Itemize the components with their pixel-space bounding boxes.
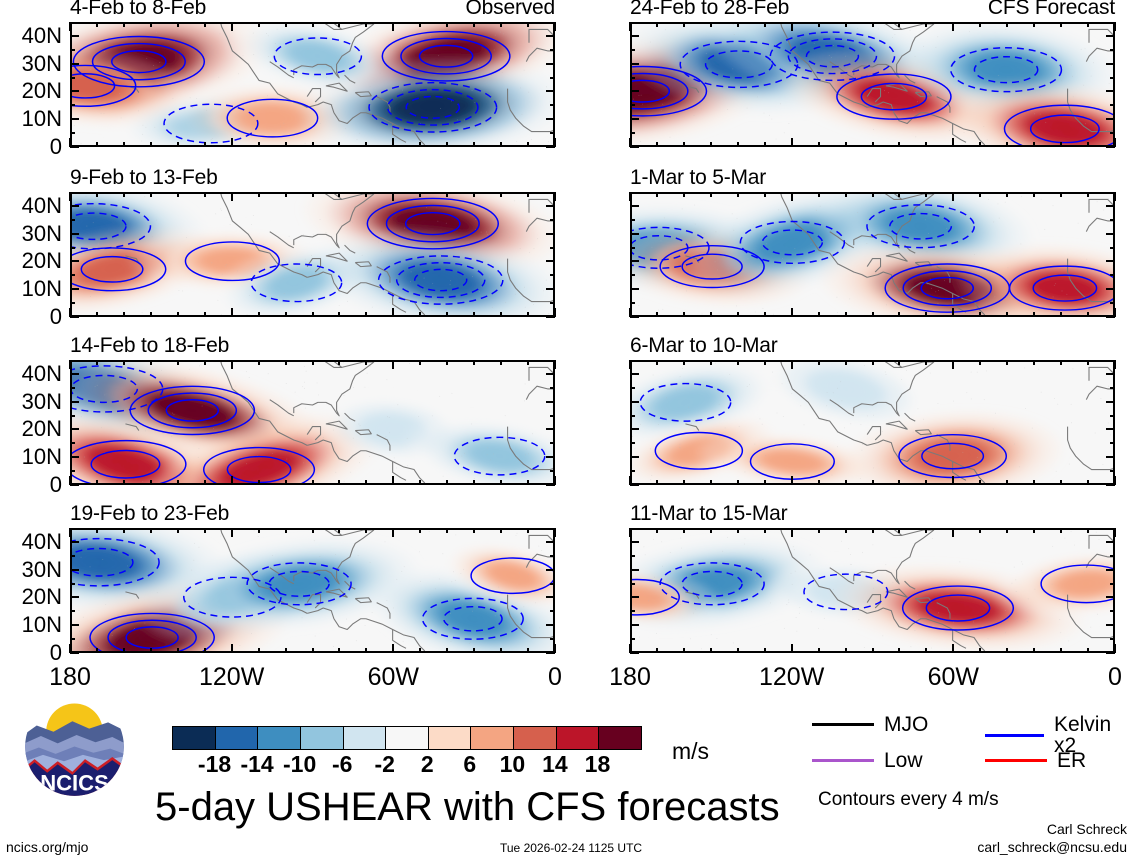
y-tick [70, 77, 75, 79]
x-tick [500, 360, 502, 365]
x-tick [419, 22, 421, 27]
colorbar-swatch [471, 727, 514, 749]
x-tick [737, 648, 739, 653]
x-tick [312, 142, 314, 147]
y-tick [70, 90, 79, 92]
y-tick [630, 442, 635, 444]
x-tick [285, 192, 287, 197]
x-tick [338, 22, 340, 27]
x-tick [1087, 142, 1089, 147]
colorbar [172, 726, 642, 750]
x-tick [791, 528, 793, 537]
x-tick [979, 360, 981, 365]
x-tick [365, 360, 367, 365]
plot-area-obs-3 [70, 360, 555, 485]
x-tick [818, 192, 820, 197]
y-tick [546, 373, 555, 375]
y-tick [1110, 219, 1115, 221]
x-tick [952, 528, 954, 537]
y-axis-label: 0 [0, 306, 62, 328]
colorbar-tick-label: -10 [283, 753, 316, 776]
x-tick [285, 142, 287, 147]
panel-title-obs-3: 14-Feb to 18-Feb [70, 335, 229, 356]
y-tick [630, 302, 635, 304]
y-tick [546, 316, 555, 318]
y-tick [1110, 77, 1115, 79]
y-tick [70, 415, 75, 417]
x-tick [791, 22, 793, 31]
x-tick [898, 192, 900, 197]
map-panel-fcst-2: 1-Mar to 5-Mar [630, 192, 1115, 317]
x-tick [419, 142, 421, 147]
x-tick [204, 360, 206, 365]
x-tick [285, 312, 287, 317]
y-tick [1110, 247, 1115, 249]
y-tick [1106, 373, 1115, 375]
y-tick [1110, 415, 1115, 417]
legend-label: Low [884, 750, 923, 771]
x-tick [96, 648, 98, 653]
x-tick [473, 648, 475, 653]
y-tick [630, 90, 639, 92]
x-tick [656, 142, 658, 147]
y-axis-label: 20N [0, 80, 62, 102]
x-tick [177, 192, 179, 197]
x-tick [1114, 360, 1116, 369]
y-tick [1110, 470, 1115, 472]
legend-item-er: ER [985, 750, 1086, 771]
y-tick [546, 288, 555, 290]
x-tick [845, 648, 847, 653]
x-tick [952, 360, 954, 369]
x-tick [925, 360, 927, 365]
x-tick [419, 648, 421, 653]
author-email[interactable]: carl_schreck@ncsu.edu [977, 840, 1127, 854]
map-panel-obs-3: 14-Feb to 18-Feb [70, 360, 555, 485]
y-tick [70, 555, 75, 557]
y-tick [546, 596, 555, 598]
x-axis-label: 180 [49, 665, 91, 690]
y-axis-label: 10N [0, 614, 62, 636]
x-tick [1060, 648, 1062, 653]
x-tick [818, 312, 820, 317]
x-tick [258, 528, 260, 533]
y-tick [550, 470, 555, 472]
y-tick [70, 205, 79, 207]
x-tick [527, 22, 529, 27]
x-tick [764, 648, 766, 653]
x-tick [898, 360, 900, 365]
x-tick [392, 644, 394, 653]
x-tick [231, 644, 233, 653]
colorbar-tick-label: -14 [240, 753, 273, 776]
y-tick [1106, 146, 1115, 148]
y-tick [1110, 49, 1115, 51]
x-tick [629, 528, 631, 537]
x-axis-label: 0 [548, 665, 562, 690]
x-tick [312, 22, 314, 27]
y-axis-label: 10N [0, 446, 62, 468]
x-tick [96, 142, 98, 147]
y-tick [70, 260, 79, 262]
x-tick [1060, 22, 1062, 27]
x-tick [656, 360, 658, 365]
x-tick [96, 360, 98, 365]
y-tick [1106, 541, 1115, 543]
colorbar-tick-label: -18 [198, 753, 231, 776]
x-tick [365, 312, 367, 317]
x-tick [683, 480, 685, 485]
x-tick [898, 142, 900, 147]
x-axis-label: 60W [928, 665, 979, 690]
x-tick [446, 360, 448, 365]
y-axis-label: 30N [0, 53, 62, 75]
x-tick [231, 360, 233, 369]
x-tick [925, 192, 927, 197]
x-tick [473, 360, 475, 365]
y-tick [70, 302, 75, 304]
y-tick [546, 401, 555, 403]
y-tick [1106, 624, 1115, 626]
x-axis-label: 180 [609, 665, 651, 690]
x-tick [818, 480, 820, 485]
x-tick [312, 480, 314, 485]
y-tick [550, 415, 555, 417]
y-tick [630, 541, 639, 543]
x-tick [392, 22, 394, 31]
y-axis-label: 40N [0, 195, 62, 217]
y-tick [1106, 260, 1115, 262]
x-tick [527, 142, 529, 147]
x-tick [312, 648, 314, 653]
y-axis-label: 20N [0, 418, 62, 440]
x-tick [150, 192, 152, 197]
x-tick [845, 142, 847, 147]
map-panel-fcst-3: 6-Mar to 10-Mar [630, 360, 1115, 485]
x-tick [204, 142, 206, 147]
x-tick [365, 192, 367, 197]
y-tick [630, 260, 639, 262]
x-tick [150, 22, 152, 27]
x-tick [818, 142, 820, 147]
x-tick [737, 312, 739, 317]
x-tick [1060, 528, 1062, 533]
x-tick [231, 138, 233, 147]
y-tick [1110, 302, 1115, 304]
x-tick [258, 480, 260, 485]
y-tick [630, 247, 635, 249]
colorbar-unit-label: m/s [672, 740, 709, 763]
x-tick [1087, 480, 1089, 485]
colorbar-tick-label: 10 [500, 753, 526, 776]
x-tick [764, 22, 766, 27]
colorbar-tick-label: 18 [585, 753, 611, 776]
x-tick [656, 192, 658, 197]
y-tick [70, 274, 75, 276]
x-tick [710, 22, 712, 27]
x-tick [818, 22, 820, 27]
y-tick [550, 274, 555, 276]
colorbar-tick-label: 2 [421, 753, 434, 776]
x-tick [150, 648, 152, 653]
column-header-left: Observed [466, 0, 555, 18]
x-tick [683, 192, 685, 197]
x-tick [150, 528, 152, 533]
x-tick [872, 360, 874, 365]
x-tick [1033, 480, 1035, 485]
y-tick [70, 541, 79, 543]
y-tick [70, 428, 79, 430]
y-tick [1106, 428, 1115, 430]
y-tick [70, 456, 79, 458]
x-tick [710, 528, 712, 533]
x-tick [764, 192, 766, 197]
x-tick [446, 142, 448, 147]
x-tick [473, 142, 475, 147]
contour-interval-note: Contours every 4 m/s [818, 790, 999, 809]
x-tick [554, 22, 556, 31]
x-tick [925, 480, 927, 485]
x-tick [338, 192, 340, 197]
x-tick [150, 360, 152, 365]
colorbar-swatch [216, 727, 259, 749]
x-tick [473, 192, 475, 197]
y-tick [70, 146, 79, 148]
x-tick [527, 192, 529, 197]
x-tick [123, 22, 125, 27]
x-tick [231, 308, 233, 317]
figure-title: 5-day USHEAR with CFS forecasts [155, 787, 780, 827]
y-tick [630, 205, 639, 207]
x-tick [791, 308, 793, 317]
map-panel-obs-2: 9-Feb to 13-Feb [70, 192, 555, 317]
y-axis-label: 0 [0, 642, 62, 664]
x-tick [710, 360, 712, 365]
x-tick [898, 22, 900, 27]
colorbar-swatch [599, 727, 641, 749]
x-tick [737, 22, 739, 27]
x-tick [683, 22, 685, 27]
y-tick [550, 247, 555, 249]
x-tick [150, 142, 152, 147]
panel-title-obs-1: 4-Feb to 8-Feb [70, 0, 206, 18]
x-tick [925, 312, 927, 317]
y-tick [1110, 442, 1115, 444]
x-tick [952, 308, 954, 317]
svg-text:NCICS: NCICS [40, 771, 109, 796]
x-tick [979, 192, 981, 197]
y-tick [1106, 63, 1115, 65]
x-tick [1087, 528, 1089, 533]
plot-area-fcst-4 [630, 528, 1115, 653]
y-tick [630, 624, 639, 626]
x-tick [898, 312, 900, 317]
x-tick [629, 192, 631, 201]
x-tick [473, 480, 475, 485]
y-tick [1106, 205, 1115, 207]
y-tick [630, 569, 639, 571]
x-tick [683, 142, 685, 147]
panel-title-fcst-2: 1-Mar to 5-Mar [630, 167, 766, 188]
x-tick [392, 308, 394, 317]
x-tick [683, 312, 685, 317]
y-tick [550, 132, 555, 134]
y-tick [70, 35, 79, 37]
x-tick [1033, 142, 1035, 147]
y-axis-label: 40N [0, 531, 62, 553]
y-tick [550, 219, 555, 221]
x-tick [845, 312, 847, 317]
y-tick [550, 442, 555, 444]
map-panel-fcst-1: 24-Feb to 28-FebCFS Forecast [630, 22, 1115, 147]
x-tick [500, 480, 502, 485]
x-tick [419, 192, 421, 197]
y-tick [1106, 233, 1115, 235]
x-tick [446, 312, 448, 317]
x-tick [123, 648, 125, 653]
x-tick [554, 528, 556, 537]
y-tick [1106, 456, 1115, 458]
y-tick [70, 316, 79, 318]
x-tick [710, 192, 712, 197]
x-axis-label: 0 [1108, 665, 1122, 690]
panel-title-obs-4: 19-Feb to 23-Feb [70, 503, 229, 524]
y-tick [70, 373, 79, 375]
y-tick [546, 63, 555, 65]
x-tick [656, 312, 658, 317]
y-axis-label: 40N [0, 363, 62, 385]
x-tick [123, 480, 125, 485]
x-tick [204, 648, 206, 653]
plot-area-fcst-2 [630, 192, 1115, 317]
colorbar-swatch [258, 727, 301, 749]
x-tick [1087, 312, 1089, 317]
x-tick [204, 480, 206, 485]
x-tick [845, 360, 847, 365]
x-tick [952, 192, 954, 201]
x-tick [764, 360, 766, 365]
y-tick [630, 583, 635, 585]
x-tick [312, 528, 314, 533]
x-tick [629, 360, 631, 369]
x-tick [258, 22, 260, 27]
x-tick [1006, 528, 1008, 533]
legend-label: MJO [884, 714, 928, 735]
x-tick [1033, 528, 1035, 533]
y-tick [550, 638, 555, 640]
x-tick [554, 192, 556, 201]
x-tick [737, 142, 739, 147]
y-axis-label: 20N [0, 250, 62, 272]
x-tick [656, 528, 658, 533]
x-tick [737, 360, 739, 365]
x-tick [656, 22, 658, 27]
x-tick [365, 528, 367, 533]
x-tick [392, 528, 394, 537]
y-tick [70, 652, 79, 654]
x-axis-label: 120W [199, 665, 264, 690]
x-tick [177, 480, 179, 485]
x-tick [419, 480, 421, 485]
y-tick [630, 274, 635, 276]
x-tick [952, 476, 954, 485]
x-tick [737, 480, 739, 485]
x-tick [177, 22, 179, 27]
x-tick [656, 480, 658, 485]
author-name: Carl Schreck [1047, 822, 1127, 836]
x-tick [419, 528, 421, 533]
x-tick [446, 648, 448, 653]
y-tick [70, 387, 75, 389]
x-tick [845, 528, 847, 533]
x-tick [952, 22, 954, 31]
ncics-logo-graphic: NCICS [22, 694, 127, 799]
y-tick [630, 387, 635, 389]
column-header-right: CFS Forecast [988, 0, 1115, 18]
x-tick [473, 22, 475, 27]
y-tick [630, 373, 639, 375]
x-tick [1006, 360, 1008, 365]
x-tick [338, 528, 340, 533]
x-tick [231, 476, 233, 485]
x-tick [69, 22, 71, 31]
colorbar-swatch [344, 727, 387, 749]
x-tick [683, 528, 685, 533]
y-tick [70, 132, 75, 134]
x-tick [204, 192, 206, 197]
colorbar-swatch [301, 727, 344, 749]
legend-line-swatch [985, 759, 1047, 762]
y-tick [1110, 387, 1115, 389]
y-tick [1106, 484, 1115, 486]
x-tick [979, 142, 981, 147]
x-tick [96, 528, 98, 533]
x-tick [527, 360, 529, 365]
y-tick [630, 233, 639, 235]
y-tick [1110, 132, 1115, 134]
x-tick [1087, 648, 1089, 653]
x-tick [629, 22, 631, 31]
colorbar-tick-label: 14 [542, 753, 568, 776]
x-tick [764, 312, 766, 317]
x-tick [925, 142, 927, 147]
x-tick [872, 22, 874, 27]
x-tick [204, 22, 206, 27]
x-tick [500, 312, 502, 317]
x-tick [392, 138, 394, 147]
y-tick [70, 219, 75, 221]
x-tick [204, 528, 206, 533]
x-tick [258, 142, 260, 147]
site-url[interactable]: ncics.org/mjo [6, 840, 88, 854]
ncics-logo: NCICS [22, 694, 127, 799]
colorbar-swatch [514, 727, 557, 749]
y-tick [1106, 596, 1115, 598]
colorbar-swatch [429, 727, 472, 749]
x-tick [872, 142, 874, 147]
x-tick [1033, 648, 1035, 653]
y-tick [546, 541, 555, 543]
x-tick [764, 528, 766, 533]
panel-title-fcst-4: 11-Mar to 15-Mar [630, 503, 787, 524]
y-axis-label: 0 [0, 474, 62, 496]
x-tick [231, 528, 233, 537]
x-tick [737, 528, 739, 533]
x-tick [818, 648, 820, 653]
x-tick [818, 360, 820, 365]
x-tick [791, 360, 793, 369]
y-tick [546, 205, 555, 207]
